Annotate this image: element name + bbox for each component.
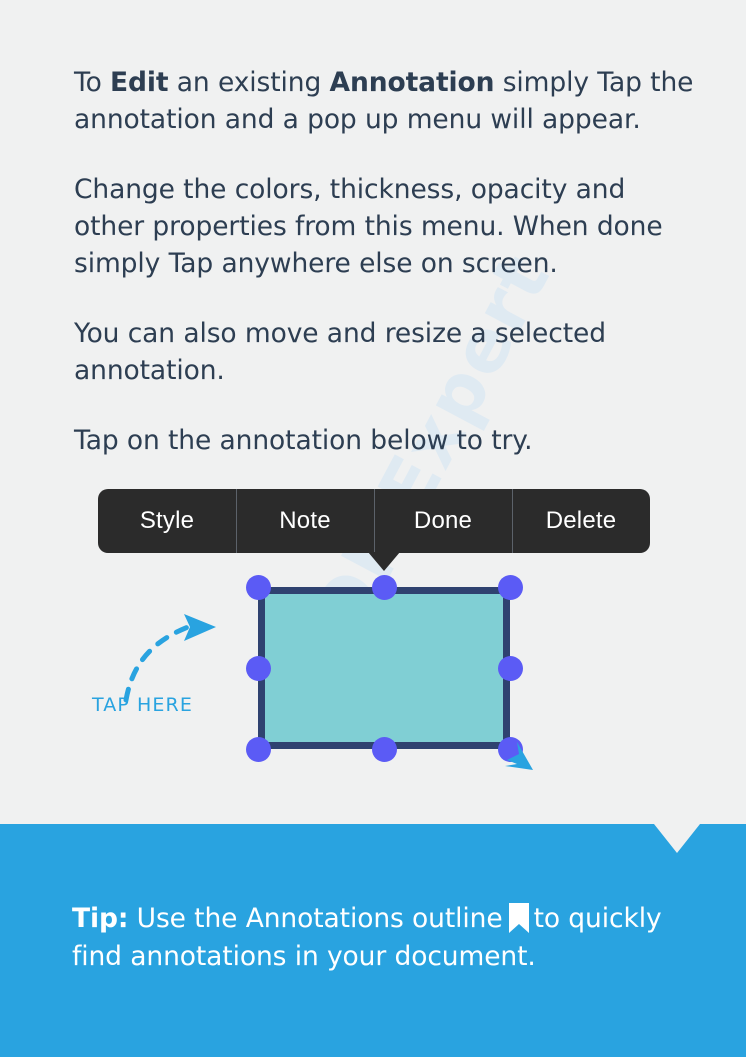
p1-seg-3: an existing <box>168 67 329 98</box>
selected-annotation[interactable] <box>258 587 510 749</box>
resize-handle-top-right[interactable] <box>498 575 523 600</box>
resize-handle-bottom-left[interactable] <box>246 737 271 762</box>
paragraph-4: Tap on the annotation below to try. <box>74 422 694 459</box>
p1-seg-1: To <box>74 67 110 98</box>
tap-here-callout: TAP HERE <box>88 596 248 726</box>
popup-pointer-tail <box>368 552 400 571</box>
resize-handle-top-center[interactable] <box>372 575 397 600</box>
annotation-rectangle[interactable] <box>258 587 510 749</box>
paragraph-3: You can also move and resize a selected … <box>74 315 694 389</box>
popup-item-style[interactable]: Style <box>98 489 236 553</box>
p1-bold-edit: Edit <box>110 67 168 98</box>
paragraph-1: To Edit an existing Annotation simply Ta… <box>74 64 694 138</box>
popup-item-delete[interactable]: Delete <box>512 489 650 553</box>
tutorial-page: PDF Expert To Edit an existing Annotatio… <box>0 0 746 1057</box>
resize-handle-middle-left[interactable] <box>246 656 271 681</box>
resize-handle-middle-right[interactable] <box>498 656 523 681</box>
paragraph-2: Change the colors, thickness, opacity an… <box>74 171 694 282</box>
tip-banner-notch <box>654 824 700 853</box>
tip-label: Tip: <box>72 903 128 934</box>
resize-handle-bottom-center[interactable] <box>372 737 397 762</box>
tap-here-label: TAP HERE <box>92 694 193 716</box>
tip-banner: Tip: Use the Annotations outlineto quick… <box>0 824 746 1057</box>
instruction-copy: To Edit an existing Annotation simply Ta… <box>74 64 694 459</box>
arrow-down-right-icon <box>503 740 543 780</box>
bookmark-icon <box>509 903 529 933</box>
resize-handle-top-left[interactable] <box>246 575 271 600</box>
popup-item-note[interactable]: Note <box>236 489 374 553</box>
tip-text-before-icon: Use the Annotations outline <box>128 903 502 934</box>
popup-item-done[interactable]: Done <box>374 489 512 553</box>
annotation-popup-menu[interactable]: Style Note Done Delete <box>98 489 650 553</box>
p1-bold-annotation: Annotation <box>330 67 495 98</box>
resize-direction-arrow-icon <box>503 740 543 780</box>
tip-banner-text: Tip: Use the Annotations outlineto quick… <box>72 900 697 976</box>
